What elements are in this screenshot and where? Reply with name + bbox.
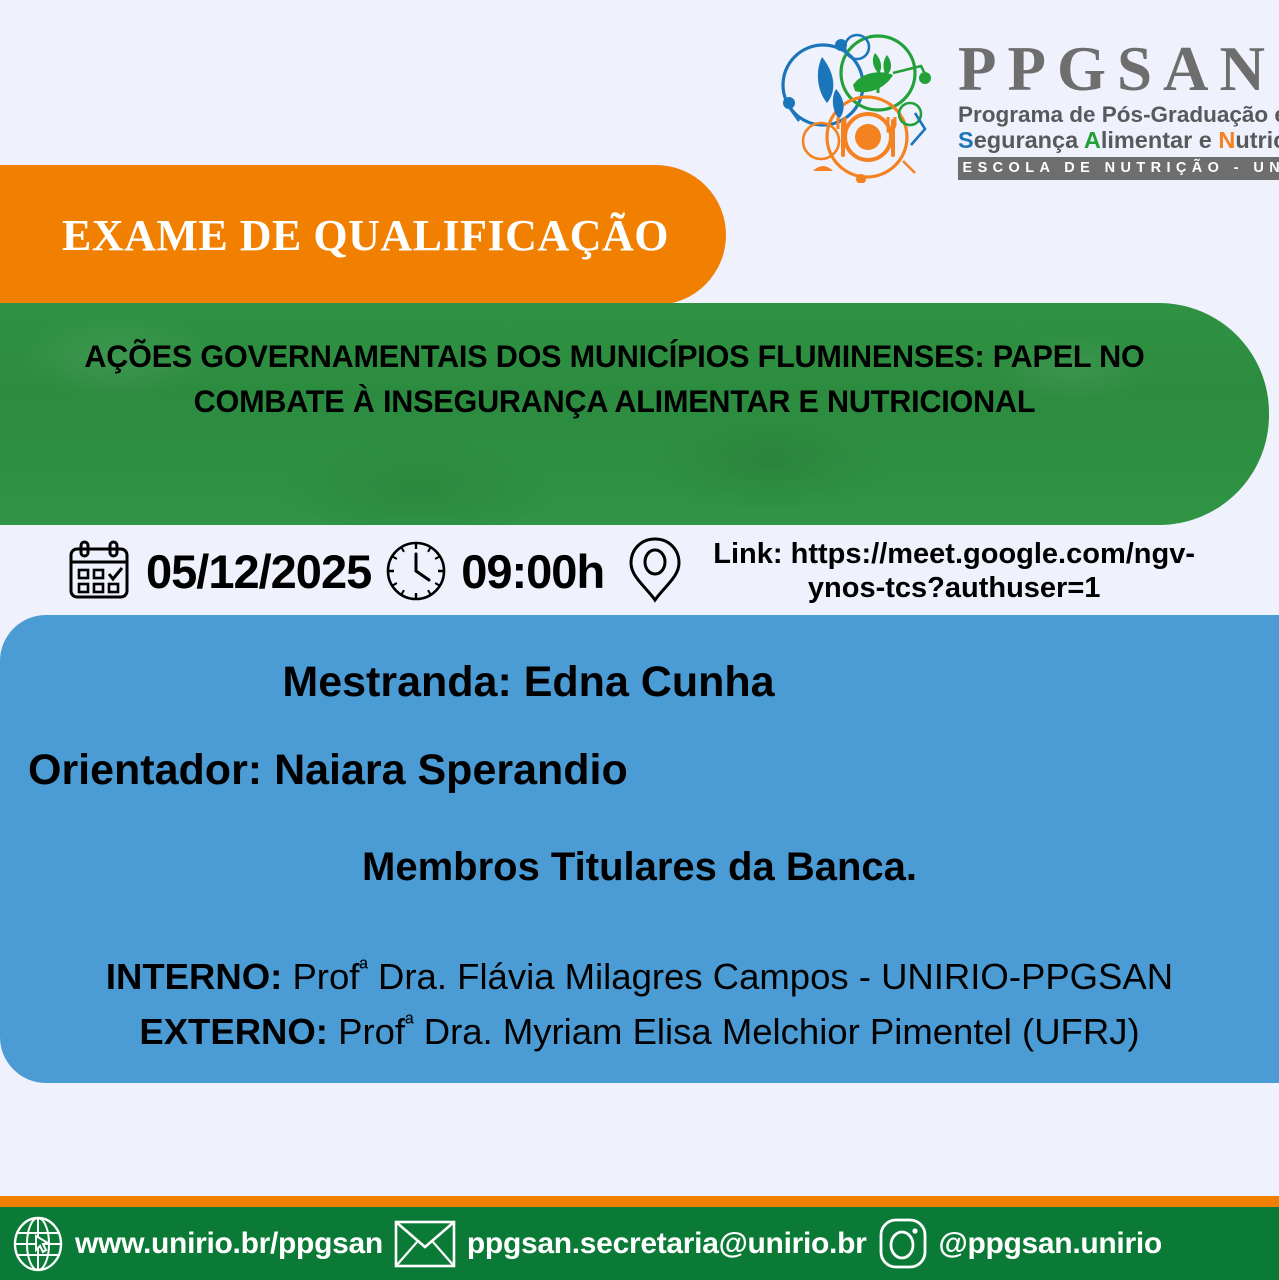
committee-name-internal: Dra. Flávia Milagres Campos - UNIRIO-PPG…	[368, 956, 1173, 997]
ppgsan-a: A	[1084, 127, 1101, 153]
ppgsan-n: N	[1218, 127, 1235, 153]
ppgsan-acronym: PPGSAN	[958, 40, 1279, 100]
advisor-line: Orientador: Naiara Sperandio	[28, 746, 628, 795]
poster-canvas: PPGSAN Programa de Pós-Graduação em Segu…	[0, 0, 1279, 1280]
ppgsan-subtitle-line2: Segurança Alimentar e Nutricional	[958, 127, 1279, 153]
ppgsan-limentar: limentar e	[1101, 127, 1219, 153]
committee-prefix-external: Prof	[328, 1011, 405, 1052]
ppgsan-emblem-icon	[775, 33, 950, 183]
event-time: 09:00h	[461, 544, 604, 599]
student-line: Mestranda: Edna Cunha	[0, 658, 1168, 707]
thesis-title: AÇÕES GOVERNAMENTAIS DOS MUNICÍPIOS FLUM…	[18, 334, 1210, 423]
committee-list: INTERNO: Profª Dra. Flávia Milagres Camp…	[0, 949, 1279, 1060]
committee-role-internal: INTERNO:	[106, 956, 282, 997]
meeting-link-group: Link: https://meet.google.com/ngv-ynos-t…	[626, 536, 1214, 606]
committee-sup-external: ª	[405, 1010, 414, 1036]
event-info-row: 05/12/2025 09:00h Link: https://meet.goo…	[0, 527, 1279, 615]
committee-name-external: Dra. Myriam Elisa Melchior Pimentel (UFR…	[414, 1011, 1140, 1052]
committee-sup-internal: ª	[359, 955, 368, 981]
committee-heading: Membros Titulares da Banca.	[0, 845, 1279, 890]
committee-prefix-internal: Prof	[282, 956, 359, 997]
details-panel: Mestranda: Edna Cunha Orientador: Naiara…	[0, 615, 1279, 1083]
committee-role-external: EXTERNO:	[139, 1011, 328, 1052]
clock-icon	[385, 540, 447, 602]
footer-contact-bar: www.unirio.br/ppgsan ppgsan.secretaria@u…	[0, 1207, 1279, 1280]
date-time-group: 05/12/2025 09:00h	[66, 540, 604, 602]
calendar-icon	[66, 540, 132, 602]
footer-instagram[interactable]: @ppgsan.unirio	[939, 1227, 1162, 1261]
footer-website[interactable]: www.unirio.br/ppgsan	[75, 1227, 383, 1261]
ppgsan-subtitle-line1: Programa de Pós-Graduação em	[958, 102, 1279, 127]
footer-email[interactable]: ppgsan.secretaria@unirio.br	[467, 1227, 867, 1261]
event-date: 05/12/2025	[146, 544, 371, 599]
instagram-icon	[878, 1216, 928, 1271]
committee-member-external: EXTERNO: Profª Dra. Myriam Elisa Melchio…	[0, 1004, 1279, 1059]
location-pin-icon	[626, 536, 684, 606]
meeting-link[interactable]: Link: https://meet.google.com/ngv-ynos-t…	[694, 537, 1214, 605]
exam-type-label: EXAME DE QUALIFICAÇÃO	[62, 210, 669, 261]
ppgsan-eguranca: egurança	[974, 127, 1084, 153]
ppgsan-logo: PPGSAN Programa de Pós-Graduação em Segu…	[775, 28, 1255, 188]
title-panel: AÇÕES GOVERNAMENTAIS DOS MUNICÍPIOS FLUM…	[0, 303, 1269, 525]
mail-icon	[394, 1220, 456, 1268]
ppgsan-school-bar: ESCOLA DE NUTRIÇÃO - UNIRIO	[958, 157, 1279, 180]
globe-icon	[12, 1216, 64, 1272]
ppgsan-s: S	[958, 127, 974, 153]
footer-accent-rule	[0, 1196, 1279, 1207]
sponsor-logo-strip: UNIRIO Universidade Federal do Estado do…	[0, 1083, 1279, 1196]
ppgsan-wordmark: PPGSAN Programa de Pós-Graduação em Segu…	[958, 36, 1279, 180]
committee-member-internal: INTERNO: Profª Dra. Flávia Milagres Camp…	[0, 949, 1279, 1004]
exam-type-banner: EXAME DE QUALIFICAÇÃO	[0, 165, 726, 305]
ppgsan-utricional: utricional	[1235, 127, 1279, 153]
